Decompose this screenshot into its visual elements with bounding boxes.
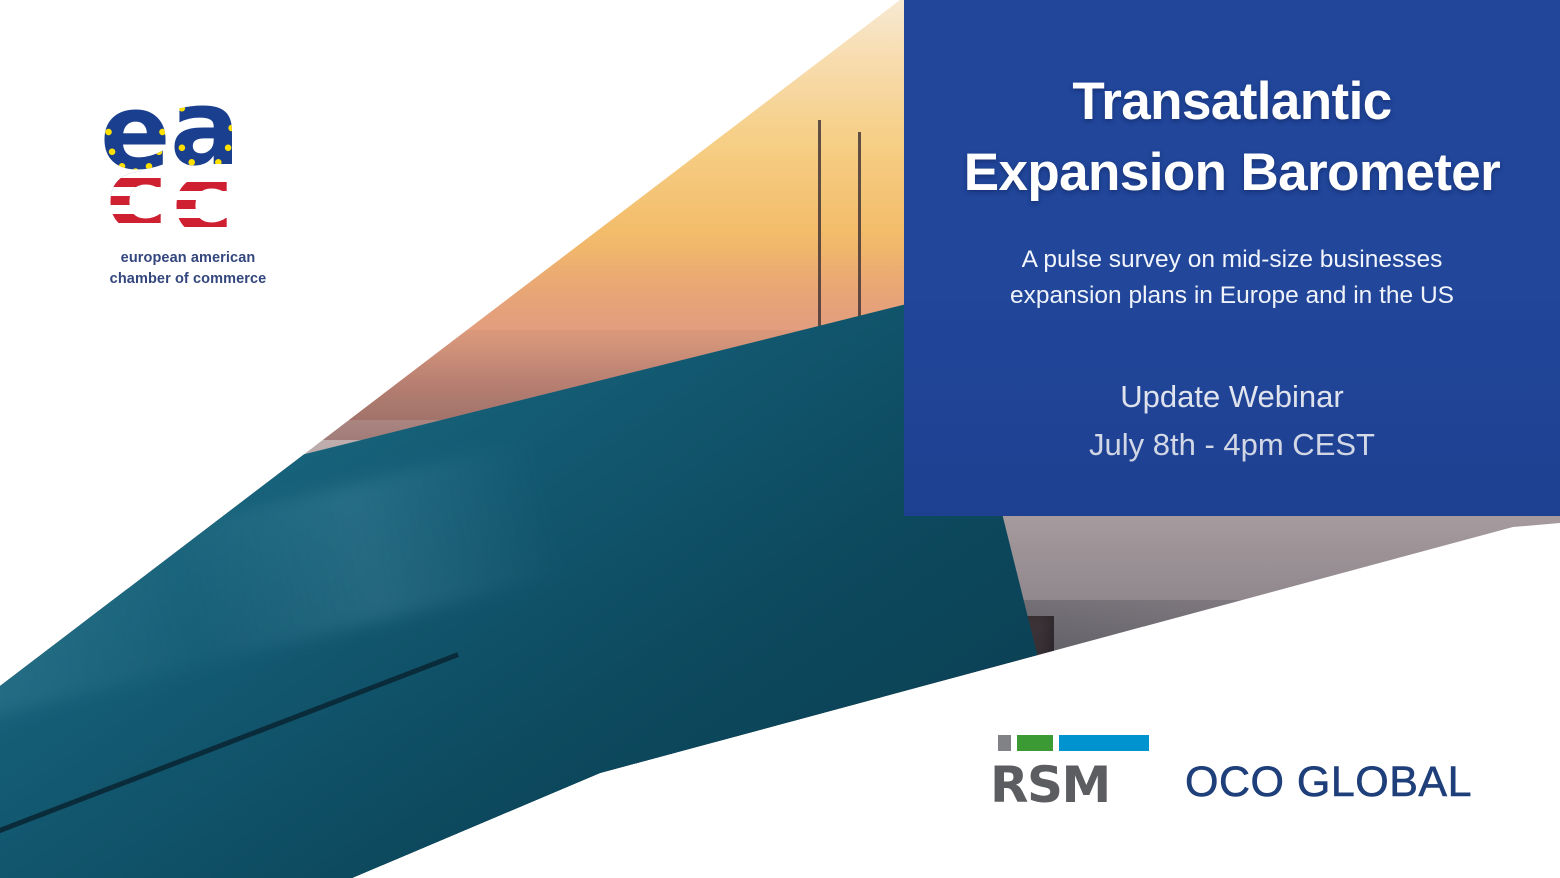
tower-antenna [858,132,861,335]
rsm-bar-blue [1059,735,1149,751]
page-title-line-2: Expansion Barometer [930,137,1534,208]
oco-global-wordmark: OCO GLOBAL [1185,761,1472,804]
event-datetime: July 8th - 4pm CEST [930,421,1534,469]
page-title: Transatlantic Expansion Barometer [930,66,1534,208]
page-title-line-1: Transatlantic [1072,72,1391,131]
event-details: Update Webinar July 8th - 4pm CEST [930,373,1534,469]
building-silhouette [1502,722,1560,878]
water-reflection [0,439,564,725]
subtitle-line-1: A pulse survey on mid-size businesses [1022,246,1443,273]
event-name: Update Webinar [1120,379,1343,414]
rsm-wordmark: RSM [990,760,1149,810]
eacc-logo: e a c c european american chamber of com… [88,80,288,290]
rsm-logo: RSM [990,735,1149,810]
rsm-bars-icon [998,735,1149,751]
eacc-letter-c1-icon: c [106,142,168,246]
eacc-tagline-line-1: european american [88,248,288,269]
rsm-bar-gray [998,735,1011,751]
subtitle: A pulse survey on mid-size businesses ex… [930,242,1534,315]
eacc-tagline: european american chamber of commerce [88,248,288,289]
tower-antenna [818,120,821,335]
subtitle-line-2: expansion plans in Europe and in the US [1010,282,1454,309]
rsm-bar-green [1017,735,1053,751]
partner-logos: RSM OCO GLOBAL [990,735,1472,810]
eacc-logo-mark: e a c c [98,80,278,240]
eacc-letter-c2-icon: c [172,146,234,250]
title-panel-content: Transatlantic Expansion Barometer A puls… [904,0,1560,516]
title-panel: Transatlantic Expansion Barometer A puls… [904,0,1560,516]
eacc-tagline-line-2: chamber of commerce [88,269,288,290]
presentation-slide: Transatlantic Expansion Barometer A puls… [0,0,1560,878]
